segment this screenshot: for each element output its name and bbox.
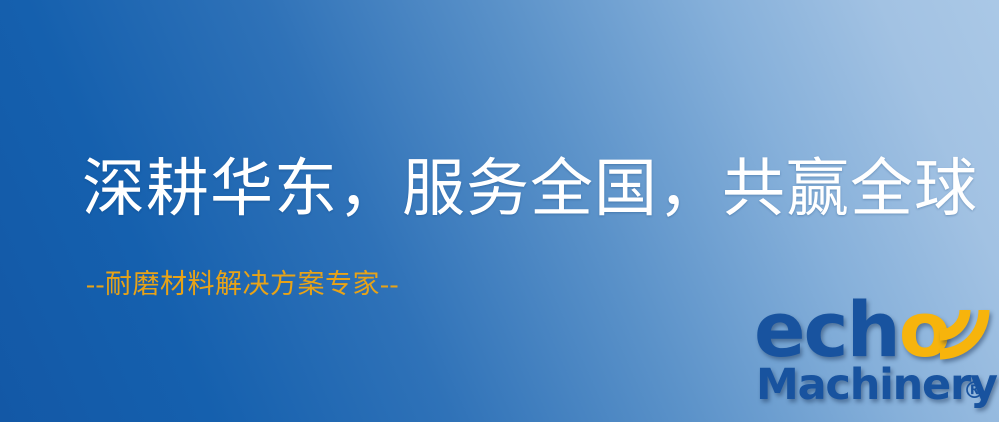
echo-machinery-logo[interactable]: echo Machinery ® [748,296,999,422]
logo-text-machinery: Machinery [756,362,997,408]
registered-trademark-icon: ® [963,380,986,403]
banner-subtitle: --耐磨材料解决方案专家-- [86,268,399,301]
banner-headline: 深耕华东，服务全国，共赢全球 [82,152,978,226]
logo-wordmark: echo Machinery ® [748,296,999,422]
logo-text-echo: echo [754,292,949,368]
echo-wave-arcs-icon [926,296,998,368]
promo-banner: 深耕华东，服务全国，共赢全球 --耐磨材料解决方案专家-- echo Machi… [0,0,999,422]
